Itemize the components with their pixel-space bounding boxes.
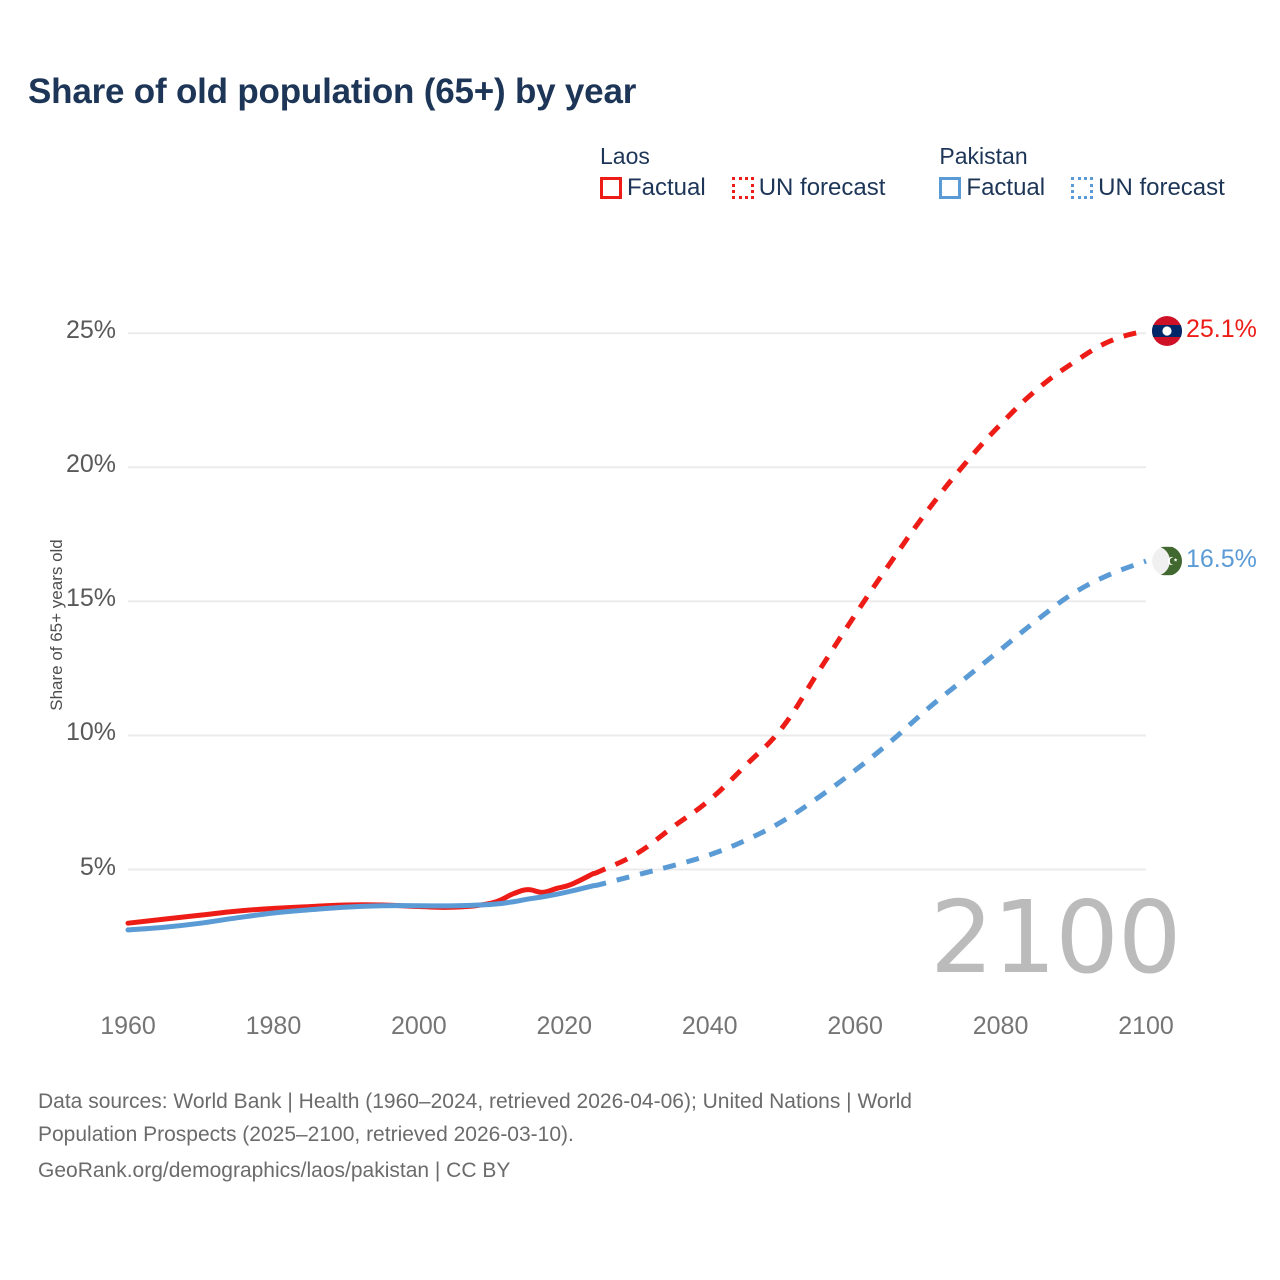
legend-swatch-solid-icon [939,177,961,199]
legend-item-pakistan-factual[interactable]: Factual [939,176,1045,200]
legend-swatch-solid-icon [600,177,622,199]
x-axis-tick-label: 2000 [359,1012,479,1041]
pakistan-end-value: 16.5% [1186,545,1257,574]
year-watermark: 2100 [930,888,1181,988]
footer-line-3[interactable]: GeoRank.org/demographics/laos/pakistan |… [38,1155,1158,1188]
legend-item-label: UN forecast [759,176,886,200]
legend-swatch-dotted-icon [732,177,754,199]
legend-row-pakistan: Factual UN forecast [939,176,1224,200]
x-axis-tick-label: 1980 [213,1012,333,1041]
y-axis-tick-label: 15% [24,584,116,613]
legend-item-laos-forecast[interactable]: UN forecast [732,176,886,200]
legend-group-title-laos: Laos [600,144,885,169]
legend-item-label: Factual [627,176,706,200]
legend-group-title-pakistan: Pakistan [939,144,1224,169]
footer-line-2: Population Prospects (2025–2100, retriev… [38,1119,1158,1152]
y-axis-tick-label: 10% [24,718,116,747]
series-line-factual-laos [128,874,593,924]
series-line-forecast-laos [593,331,1146,874]
footer-line-1: Data sources: World Bank | Health (1960–… [38,1086,1158,1119]
y-axis-tick-label: 25% [24,316,116,345]
x-axis-tick-label: 1960 [68,1012,188,1041]
pakistan-flag-icon [1152,546,1182,576]
y-axis-tick-label: 20% [24,450,116,479]
series-line-forecast-pakistan [593,561,1146,886]
legend-swatch-dotted-icon [1071,177,1093,199]
legend-group-pakistan: Pakistan Factual UN forecast [939,144,1224,200]
series-line-factual-pakistan [128,886,593,930]
x-axis-tick-label: 2060 [795,1012,915,1041]
x-axis-tick-label: 2040 [650,1012,770,1041]
y-axis-label: Share of 65+ years old [47,495,67,755]
laos-flag-icon [1152,316,1182,346]
legend-item-laos-factual[interactable]: Factual [600,176,706,200]
legend-row-laos: Factual UN forecast [600,176,885,200]
legend-group-laos: Laos Factual UN forecast [600,144,885,200]
chart-gridlines [128,333,1146,869]
legend-item-label: UN forecast [1098,176,1225,200]
chart-legend: Laos Factual UN forecast Pakistan Factua… [600,144,1225,200]
x-axis-tick-label: 2080 [941,1012,1061,1041]
legend-item-pakistan-forecast[interactable]: UN forecast [1071,176,1225,200]
page-title: Share of old population (65+) by year [28,72,636,112]
chart-footer: Data sources: World Bank | Health (1960–… [38,1086,1158,1188]
x-axis-tick-label: 2020 [504,1012,624,1041]
y-axis-tick-label: 5% [24,853,116,882]
x-axis-tick-label: 2100 [1086,1012,1206,1041]
chart-series [128,331,1146,930]
laos-end-value: 25.1% [1186,315,1257,344]
legend-item-label: Factual [966,176,1045,200]
